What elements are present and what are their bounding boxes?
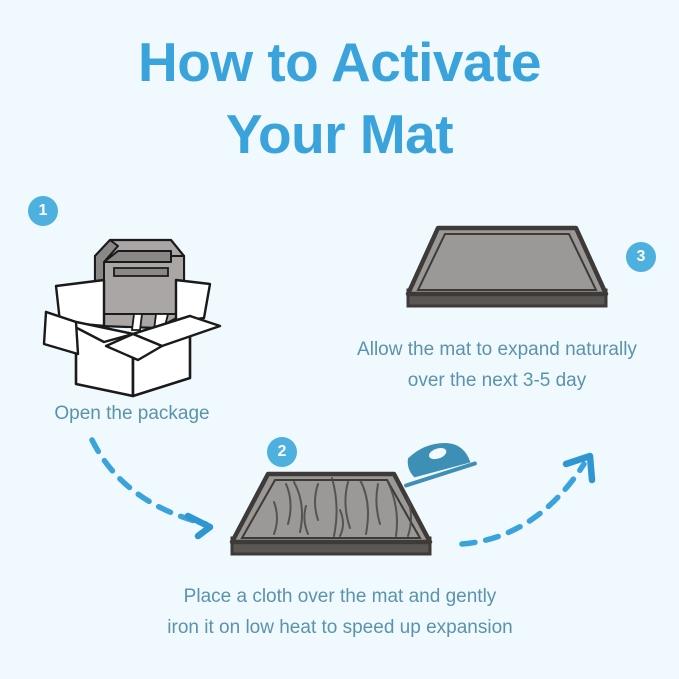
dashed-arrow-up-right-icon	[458, 442, 612, 556]
flat-mat-illustration	[398, 218, 618, 318]
title-line-2: Your Mat	[0, 98, 679, 170]
rolled-mat-icon	[95, 240, 184, 330]
title-line-1: How to Activate	[0, 26, 679, 98]
step-2-caption-line-2: iron it on low heat to speed up expansio…	[167, 617, 512, 638]
infographic-canvas: How to Activate Your Mat 1	[0, 0, 679, 679]
step-2-caption: Place a cloth over the mat and gently ir…	[122, 581, 558, 643]
step-3-caption-line-1: Allow the mat to expand naturally	[357, 339, 637, 360]
step-3-caption: Allow the mat to expand naturally over t…	[316, 334, 678, 396]
step-3-caption-line-2: over the next 3-5 day	[408, 370, 587, 391]
step-1-caption: Open the package	[8, 398, 256, 429]
dashed-arrow-down-right-icon	[84, 432, 234, 544]
step-2-caption-line-1: Place a cloth over the mat and gently	[184, 586, 497, 607]
step-badge-3: 3	[626, 242, 656, 272]
page-title: How to Activate Your Mat	[0, 26, 679, 170]
open-box-illustration	[38, 218, 228, 398]
